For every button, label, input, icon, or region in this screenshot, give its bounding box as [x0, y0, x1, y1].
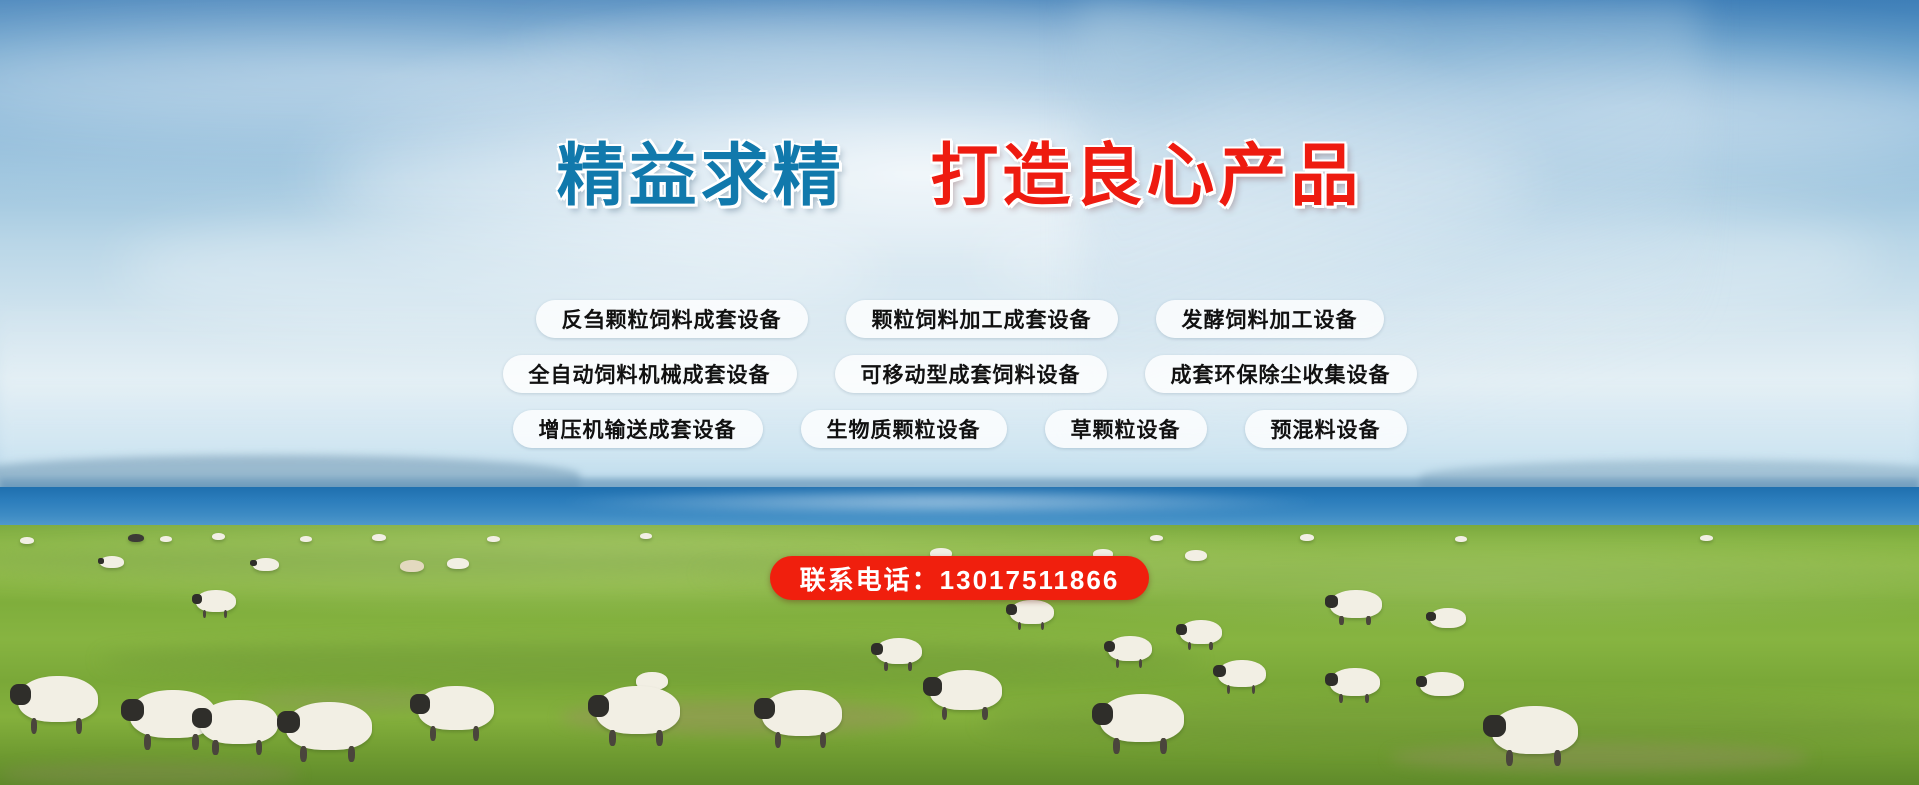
sheep	[1180, 620, 1222, 644]
sheep	[1492, 706, 1578, 754]
product-pill[interactable]: 颗粒饲料加工成套设备	[846, 300, 1118, 338]
water-reflection	[560, 489, 1320, 515]
product-pill[interactable]: 生物质颗粒设备	[801, 410, 1007, 448]
sheep	[1150, 535, 1163, 541]
sheep	[930, 670, 1002, 710]
product-pill[interactable]: 全自动饲料机械成套设备	[503, 355, 797, 393]
product-pill-group: 反刍颗粒饲料成套设备 颗粒饲料加工成套设备 发酵饲料加工设备 全自动饲料机械成套…	[0, 300, 1919, 465]
sheep	[1430, 608, 1466, 628]
sheep	[418, 686, 494, 730]
sheep	[1108, 636, 1152, 661]
sheep	[596, 686, 680, 734]
sheep	[1700, 535, 1713, 541]
sheep	[640, 533, 652, 539]
product-pill-row-3: 增压机输送成套设备 生物质颗粒设备 草颗粒设备 预混料设备	[0, 410, 1919, 448]
hero-banner: 精益求精 打造良心产品 反刍颗粒饲料成套设备 颗粒饲料加工成套设备 发酵饲料加工…	[0, 0, 1919, 785]
sheep	[1300, 534, 1314, 541]
dirt-patch	[1390, 742, 1810, 772]
contact-phone-banner[interactable]: 联系电话：13017511866	[770, 556, 1150, 600]
sheep	[1218, 660, 1266, 687]
sheep	[212, 533, 225, 540]
product-pill[interactable]: 可移动型成套饲料设备	[835, 355, 1107, 393]
sheep	[18, 676, 98, 722]
sheep	[1330, 668, 1380, 696]
product-pill-row-1: 反刍颗粒饲料成套设备 颗粒饲料加工成套设备 发酵饲料加工设备	[0, 300, 1919, 338]
product-pill[interactable]: 发酵饲料加工设备	[1156, 300, 1384, 338]
sheep	[372, 534, 386, 541]
product-pill[interactable]: 增压机输送成套设备	[513, 410, 763, 448]
sheep	[300, 536, 312, 542]
sheep	[20, 537, 34, 544]
sheep	[286, 702, 372, 750]
product-pill[interactable]: 预混料设备	[1245, 410, 1407, 448]
dirt-patch	[0, 762, 300, 785]
sheep	[1100, 694, 1184, 742]
sheep	[128, 534, 144, 542]
sheep	[762, 690, 842, 736]
sheep	[160, 536, 172, 542]
sheep	[200, 700, 278, 744]
sheep	[1420, 672, 1464, 696]
product-pill[interactable]: 草颗粒设备	[1045, 410, 1207, 448]
banner-headline: 精益求精 打造良心产品	[0, 142, 1919, 210]
sheep	[876, 638, 922, 664]
headline-primary: 精益求精	[557, 138, 845, 214]
product-pill[interactable]: 成套环保除尘收集设备	[1145, 355, 1417, 393]
sheep	[1455, 536, 1467, 542]
headline-secondary: 打造良心产品	[930, 138, 1362, 214]
product-pill[interactable]: 反刍颗粒饲料成套设备	[536, 300, 808, 338]
product-pill-row-2: 全自动饲料机械成套设备 可移动型成套饲料设备 成套环保除尘收集设备	[0, 355, 1919, 393]
sheep	[487, 536, 500, 542]
contact-banner-wrapper: 联系电话：13017511866	[0, 556, 1919, 600]
sheep	[1010, 600, 1054, 624]
